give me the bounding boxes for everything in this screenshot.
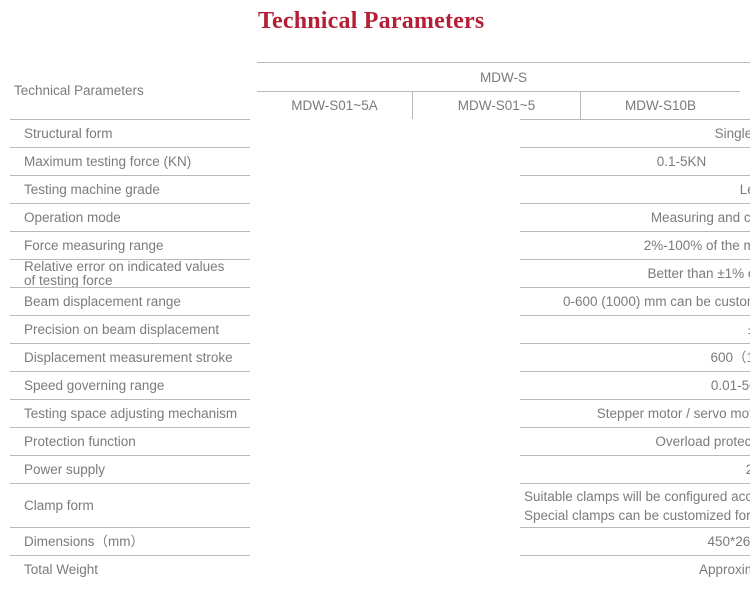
row-label: Power supply (10, 455, 250, 483)
row-label-line-1: Relative error on indicated values (24, 260, 224, 274)
table-row: Maximum testing force (KN) 0.1-5KN 10KN (0, 147, 750, 175)
row-label: Precision on beam displacement (10, 315, 250, 343)
table-row: Protection function Overload protection,… (0, 427, 750, 455)
table-row: Relative error on indicated values of te… (0, 259, 750, 287)
model-row: MDW-S01~5A MDW-S01~5 MDW-S10B (257, 91, 750, 119)
row-value: Suitable clamps will be configured accor… (520, 483, 750, 527)
row-value-left: 0.1-5KN (520, 147, 750, 175)
row-value-group: 2%-100% of the maximum testing force (263, 231, 750, 259)
row-label: Dimensions（mm） (10, 527, 250, 555)
row-value-group: ±1% (263, 315, 750, 343)
row-value-group: 0.01-500mm/min (263, 371, 750, 399)
table-row: Structural form Single arm type (0, 119, 750, 147)
row-label: Speed governing range (10, 371, 250, 399)
table-row: Testing machine grade Level 1 (0, 175, 750, 203)
row-label: Clamp form (10, 483, 250, 527)
row-value-group: Single arm type (263, 119, 750, 147)
row-value: Measuring and controlling instrument (520, 203, 750, 231)
row-value: Better than ±1% of the indicated value (520, 259, 750, 287)
row-value-group: Better than ±1% of the indicated value (263, 259, 750, 287)
row-value: 450*260*1470mm (520, 527, 750, 555)
table-row: Power supply 220V (0, 455, 750, 483)
row-value: ±1% (520, 315, 750, 343)
row-value: 0-600 (1000) mm can be customized accord… (520, 287, 750, 315)
row-value: Level 1 (520, 175, 750, 203)
row-value: Stepper motor / servo motor, low noise t… (520, 399, 750, 427)
row-value: Single arm type (520, 119, 750, 147)
table-row: Testing space adjusting mechanism Steppe… (0, 399, 750, 427)
row-label: Relative error on indicated values of te… (10, 259, 250, 287)
row-value-line-2: Special clamps can be customized for the… (524, 506, 750, 525)
row-value: 2%-100% of the maximum testing force (520, 231, 750, 259)
row-value-group: Overload protection, limit protection (263, 427, 750, 455)
model-cell-3: MDW-S10B (580, 91, 740, 119)
series-name-cell: MDW-S (257, 62, 750, 91)
row-label: Testing machine grade (10, 175, 250, 203)
row-value-group: Approximately 110kg (263, 555, 750, 583)
row-value: 600（1000）mm (520, 343, 750, 371)
table-row: Total Weight Approximately 110kg (0, 555, 750, 583)
model-cell-1: MDW-S01~5A (257, 91, 412, 119)
table-row: Operation mode Measuring and controlling… (0, 203, 750, 231)
row-value-line-1: Suitable clamps will be configured accor… (524, 487, 750, 506)
row-label-line-2: of testing force (24, 274, 224, 288)
page-title: Technical Parameters (258, 8, 484, 35)
table-row: Precision on beam displacement ±1% (0, 315, 750, 343)
row-label: Force measuring range (10, 231, 250, 259)
row-value-group: Level 1 (263, 175, 750, 203)
row-label: Displacement measurement stroke (10, 343, 250, 371)
row-label: Total Weight (10, 555, 250, 583)
model-cell-2: MDW-S01~5 (412, 91, 580, 119)
row-value-group: Suitable clamps will be configured accor… (263, 483, 750, 527)
row-value-group: 0-600 (1000) mm can be customized accord… (263, 287, 750, 315)
technical-parameters-table: Technical Parameters MDW-S MDW-S01~5A MD… (0, 62, 750, 583)
table-row: Beam displacement range 0-600 (1000) mm … (0, 287, 750, 315)
row-value-group: Measuring and controlling instrument (263, 203, 750, 231)
row-label: Structural form (10, 119, 250, 147)
row-value-group: Stepper motor / servo motor, low noise t… (263, 399, 750, 427)
row-label: Operation mode (10, 203, 250, 231)
row-value: 220V (520, 455, 750, 483)
row-value-group: 220V (263, 455, 750, 483)
row-value: Approximately 110kg (520, 555, 750, 583)
table-row: Displacement measurement stroke 600（1000… (0, 343, 750, 371)
label-column-header-text: Technical Parameters (14, 83, 144, 98)
model-header-group: MDW-S MDW-S01~5A MDW-S01~5 MDW-S10B (240, 62, 750, 119)
row-label: Testing space adjusting mechanism (10, 399, 250, 427)
row-label: Beam displacement range (10, 287, 250, 315)
table-row: Force measuring range 2%-100% of the max… (0, 231, 750, 259)
table-row: Dimensions（mm） 450*260*1470mm (0, 527, 750, 555)
row-value: Overload protection, limit protection (520, 427, 750, 455)
row-label: Protection function (10, 427, 250, 455)
table-row: Clamp form Suitable clamps will be confi… (0, 483, 750, 527)
row-value-group: 450*260*1470mm (263, 527, 750, 555)
table-row: Speed governing range 0.01-500mm/min (0, 371, 750, 399)
table-header-row: Technical Parameters MDW-S MDW-S01~5A MD… (0, 62, 750, 119)
row-value: 0.01-500mm/min (520, 371, 750, 399)
row-value-group: 0.1-5KN 10KN (263, 147, 750, 175)
label-column-header: Technical Parameters (0, 62, 240, 119)
row-value-group: 600（1000）mm (263, 343, 750, 371)
row-label: Maximum testing force (KN) (10, 147, 250, 175)
